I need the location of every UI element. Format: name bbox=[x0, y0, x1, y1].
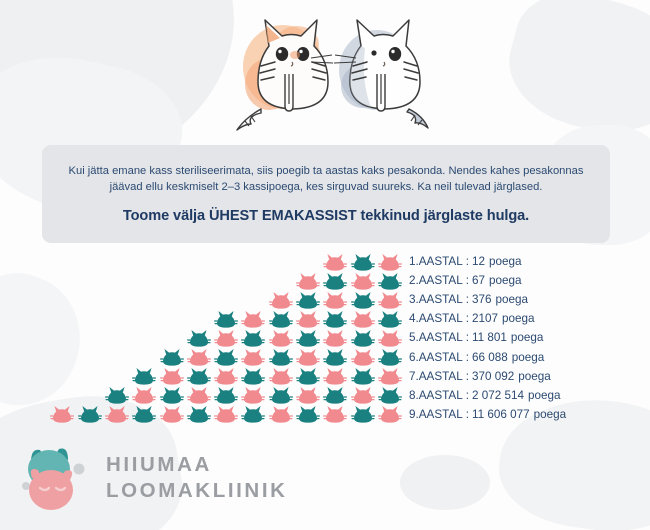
year-label: 8.AASTAL bbox=[409, 389, 463, 402]
cat-icon bbox=[269, 310, 293, 329]
year-row: 2.AASTAL:67poega bbox=[409, 271, 649, 290]
cat-icon bbox=[378, 348, 402, 367]
year-label: 2.AASTAL bbox=[409, 274, 463, 287]
year-row: 7.AASTAL:370 092poega bbox=[409, 367, 649, 386]
cat-icon bbox=[296, 329, 320, 348]
kitten-count-unit: poega bbox=[485, 255, 522, 268]
cat-icon bbox=[323, 272, 347, 291]
pyramid-row bbox=[50, 405, 402, 425]
cat-icon bbox=[269, 348, 293, 367]
pyramid-row bbox=[323, 252, 402, 272]
cat-icon bbox=[296, 348, 320, 367]
cat-icon bbox=[378, 253, 402, 272]
two-cats-illustration bbox=[225, 12, 430, 137]
logo-line-1: HIIUMAA bbox=[106, 452, 288, 478]
cat-icon bbox=[351, 386, 375, 405]
year-separator: : bbox=[463, 408, 472, 421]
cat-icon bbox=[378, 367, 402, 386]
cat-icon bbox=[296, 367, 320, 386]
kitten-count-value: 11 606 077 bbox=[472, 408, 530, 421]
cat-icon bbox=[132, 386, 156, 405]
kitten-count-unit: poega bbox=[530, 408, 567, 421]
year-separator: : bbox=[463, 312, 472, 325]
year-row: 1.AASTAL:12poega bbox=[409, 252, 649, 271]
infographic-page: Kui jätta emane kass steriliseerimata, s… bbox=[0, 0, 650, 530]
pyramid-row bbox=[160, 348, 402, 368]
cat-icon bbox=[323, 367, 347, 386]
cat-icon bbox=[269, 367, 293, 386]
cat-icon bbox=[241, 348, 265, 367]
cat-icon bbox=[378, 272, 402, 291]
cat-icon bbox=[351, 310, 375, 329]
cat-icon bbox=[323, 386, 347, 405]
kitten-count-unit: poega bbox=[508, 351, 545, 364]
year-row: 3.AASTAL:376poega bbox=[409, 290, 649, 309]
message-box: Kui jätta emane kass steriliseerimata, s… bbox=[42, 145, 610, 243]
cat-icon bbox=[323, 329, 347, 348]
cat-icon bbox=[296, 291, 320, 310]
cat-icon bbox=[296, 272, 320, 291]
cat-icon bbox=[351, 367, 375, 386]
pyramid-row bbox=[105, 386, 402, 406]
cat-icon bbox=[323, 348, 347, 367]
kitten-count-value: 370 092 bbox=[472, 370, 514, 383]
pyramid-row bbox=[214, 309, 402, 329]
cat-icon bbox=[378, 405, 402, 424]
cat-icon bbox=[160, 348, 184, 367]
cat-icon bbox=[160, 405, 184, 424]
pyramid-row bbox=[187, 328, 402, 348]
kitten-count-value: 12 bbox=[472, 255, 485, 268]
year-separator: : bbox=[463, 255, 472, 268]
cat-icon bbox=[187, 348, 211, 367]
year-label: 1.AASTAL bbox=[409, 255, 463, 268]
cat-icon bbox=[160, 367, 184, 386]
kitten-count-value: 11 801 bbox=[472, 331, 507, 344]
cat-icon bbox=[160, 386, 184, 405]
pyramid-row bbox=[269, 290, 402, 310]
year-label: 4.AASTAL bbox=[409, 312, 463, 325]
cat-icon bbox=[241, 329, 265, 348]
kitten-count-unit: poega bbox=[524, 389, 561, 402]
cat-icon bbox=[351, 272, 375, 291]
year-label: 5.AASTAL bbox=[409, 331, 463, 344]
year-row: 8.AASTAL:2 072 514poega bbox=[409, 386, 649, 405]
cat-icon bbox=[78, 405, 102, 424]
year-label: 7.AASTAL bbox=[409, 370, 463, 383]
cat-icon bbox=[351, 291, 375, 310]
message-highlight-text: Toome välja ÜHEST EMAKASSIST tekkinud jä… bbox=[123, 208, 529, 224]
kitten-count-value: 2 072 514 bbox=[472, 389, 524, 402]
cat-icon bbox=[323, 253, 347, 272]
cat-icon bbox=[50, 405, 74, 424]
logo-line-2: LOOMAKLIINIK bbox=[106, 478, 288, 504]
kitten-count-unit: poega bbox=[514, 370, 551, 383]
clinic-logo: HIIUMAA LOOMAKLIINIK bbox=[18, 440, 278, 518]
pyramid-row bbox=[296, 271, 402, 291]
cat-icon bbox=[296, 386, 320, 405]
cat-icon bbox=[214, 405, 238, 424]
cat-icon bbox=[351, 253, 375, 272]
year-separator: : bbox=[463, 370, 472, 383]
cat-icon bbox=[241, 310, 265, 329]
year-label-list: 1.AASTAL:12poega2.AASTAL:67poega3.AASTAL… bbox=[409, 252, 649, 424]
year-label: 9.AASTAL bbox=[409, 408, 463, 421]
cat-icon bbox=[323, 405, 347, 424]
year-separator: : bbox=[463, 331, 472, 344]
cat-icon bbox=[269, 405, 293, 424]
cat-icon bbox=[187, 386, 211, 405]
year-row: 6.AASTAL:66 088poega bbox=[409, 347, 649, 366]
cat-icon bbox=[323, 291, 347, 310]
cat-icon bbox=[105, 405, 129, 424]
cat-icon bbox=[241, 386, 265, 405]
kitten-count-value: 66 088 bbox=[472, 351, 508, 364]
cat-icon bbox=[351, 348, 375, 367]
cat-icon bbox=[378, 386, 402, 405]
year-separator: : bbox=[463, 293, 472, 306]
cat-icon bbox=[378, 291, 402, 310]
pyramid-row bbox=[132, 367, 402, 387]
cat-icon bbox=[269, 291, 293, 310]
year-row: 5.AASTAL:11 801poega bbox=[409, 328, 649, 347]
kitten-count-unit: poega bbox=[498, 312, 535, 325]
background-watermark bbox=[496, 0, 650, 151]
year-row: 9.AASTAL:11 606 077poega bbox=[409, 405, 649, 424]
cat-icon bbox=[269, 329, 293, 348]
year-label: 3.AASTAL bbox=[409, 293, 463, 306]
year-row: 4.AASTAL:2107poega bbox=[409, 309, 649, 328]
kitten-count-value: 67 bbox=[472, 274, 485, 287]
background-watermark bbox=[400, 455, 490, 510]
dog-and-cat-logo-mark bbox=[18, 444, 96, 516]
year-separator: : bbox=[463, 351, 472, 364]
cat-icon bbox=[187, 405, 211, 424]
cat-icon bbox=[241, 405, 265, 424]
cat-icon bbox=[378, 310, 402, 329]
cat-icon bbox=[187, 329, 211, 348]
cat-icon bbox=[269, 386, 293, 405]
year-separator: : bbox=[463, 389, 472, 402]
cat-icon bbox=[132, 367, 156, 386]
cat-icon bbox=[214, 310, 238, 329]
cat-icon bbox=[105, 386, 129, 405]
kitten-count-unit: poega bbox=[491, 293, 528, 306]
cat-icon bbox=[132, 405, 156, 424]
message-body-text: Kui jätta emane kass steriliseerimata, s… bbox=[64, 164, 588, 195]
kitten-count-unit: poega bbox=[507, 331, 544, 344]
cat-icon bbox=[214, 367, 238, 386]
cat-icon bbox=[296, 310, 320, 329]
cat-icon bbox=[296, 405, 320, 424]
cat-icon bbox=[323, 310, 347, 329]
cat-icon bbox=[241, 367, 265, 386]
cat-icon bbox=[214, 329, 238, 348]
year-separator: : bbox=[463, 274, 472, 287]
year-label: 6.AASTAL bbox=[409, 351, 463, 364]
cat-icon bbox=[351, 405, 375, 424]
cat-icon bbox=[187, 367, 211, 386]
cat-icon bbox=[214, 386, 238, 405]
kitten-count-value: 376 bbox=[472, 293, 492, 306]
cat-icon bbox=[351, 329, 375, 348]
cat-icon bbox=[378, 329, 402, 348]
logo-text: HIIUMAA LOOMAKLIINIK bbox=[106, 452, 288, 504]
kitten-count-value: 2107 bbox=[472, 312, 498, 325]
kitten-count-unit: poega bbox=[485, 274, 522, 287]
cat-icon bbox=[214, 348, 238, 367]
